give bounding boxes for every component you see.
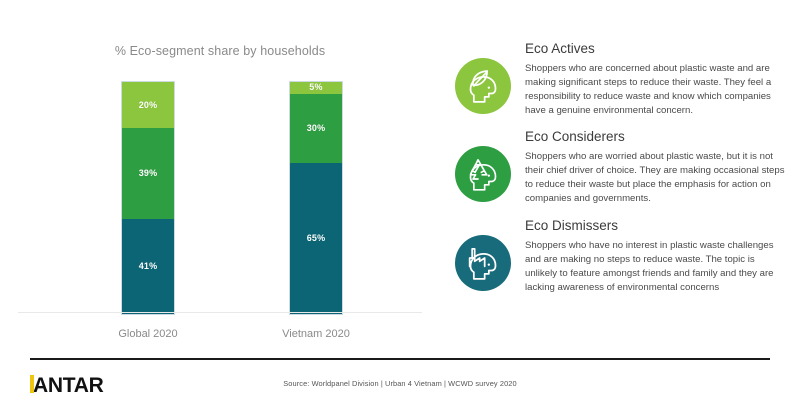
- bar-segment-label: 39%: [139, 169, 158, 178]
- segment-description: Shoppers who have no interest in plastic…: [525, 239, 787, 295]
- bar-segment-label: 65%: [307, 234, 326, 243]
- segment-text: Eco Considerers Shoppers who are worried…: [525, 128, 790, 205]
- head-recycle-icon: [455, 146, 511, 202]
- bar-segment-eco-considerers[interactable]: 39%: [122, 128, 174, 218]
- bar-segment-label: 5%: [309, 83, 322, 92]
- footer-divider: [30, 358, 770, 360]
- eco-segment-list: Eco Actives Shoppers who are concerned a…: [455, 40, 790, 294]
- segment-title: Eco Dismissers: [525, 219, 790, 234]
- bar-segment-label: 20%: [139, 101, 158, 110]
- segment-description: Shoppers who are concerned about plastic…: [525, 62, 787, 118]
- segment-description: Shoppers who are worried about plastic w…: [525, 150, 787, 206]
- chart-title: % Eco-segment share by households: [0, 44, 440, 58]
- bar-segment-eco-actives[interactable]: 20%: [122, 82, 174, 128]
- bar-segment-label: 41%: [139, 262, 158, 271]
- stacked-bar[interactable]: 5% 30% 65%: [290, 82, 342, 314]
- segment-title: Eco Considerers: [525, 130, 790, 145]
- source-note: Source: Worldpanel Division | Urban 4 Vi…: [0, 379, 800, 388]
- segment-item-eco-actives: Eco Actives Shoppers who are concerned a…: [455, 40, 790, 117]
- x-axis-line: [18, 312, 422, 313]
- segment-text: Eco Dismissers Shoppers who have no inte…: [525, 217, 790, 294]
- bar-segment-label: 30%: [307, 124, 326, 133]
- segment-text: Eco Actives Shoppers who are concerned a…: [525, 40, 790, 117]
- segment-item-eco-considerers: Eco Considerers Shoppers who are worried…: [455, 128, 790, 205]
- chart-panel: % Eco-segment share by households 20% 39…: [0, 0, 440, 350]
- bar-segment-eco-dismissers[interactable]: 65%: [290, 163, 342, 314]
- x-axis-tick-label: Global 2020: [100, 328, 196, 340]
- chart-plot-area: 20% 39% 41% Global 2020 5%: [0, 74, 440, 314]
- head-leaf-icon: [455, 58, 511, 114]
- bar-segment-eco-dismissers[interactable]: 41%: [122, 219, 174, 314]
- bar-segment-eco-considerers[interactable]: 30%: [290, 94, 342, 164]
- stacked-bar[interactable]: 20% 39% 41%: [122, 82, 174, 314]
- bar-group-vietnam: 5% 30% 65% Vietnam 2020: [268, 82, 364, 314]
- segment-item-eco-dismissers: Eco Dismissers Shoppers who have no inte…: [455, 217, 790, 294]
- bar-group-global: 20% 39% 41% Global 2020: [100, 82, 196, 314]
- bar-segment-eco-actives[interactable]: 5%: [290, 82, 342, 94]
- segment-title: Eco Actives: [525, 42, 790, 57]
- x-axis-tick-label: Vietnam 2020: [268, 328, 364, 340]
- slide: % Eco-segment share by households 20% 39…: [0, 0, 800, 408]
- head-factory-icon: [455, 235, 511, 291]
